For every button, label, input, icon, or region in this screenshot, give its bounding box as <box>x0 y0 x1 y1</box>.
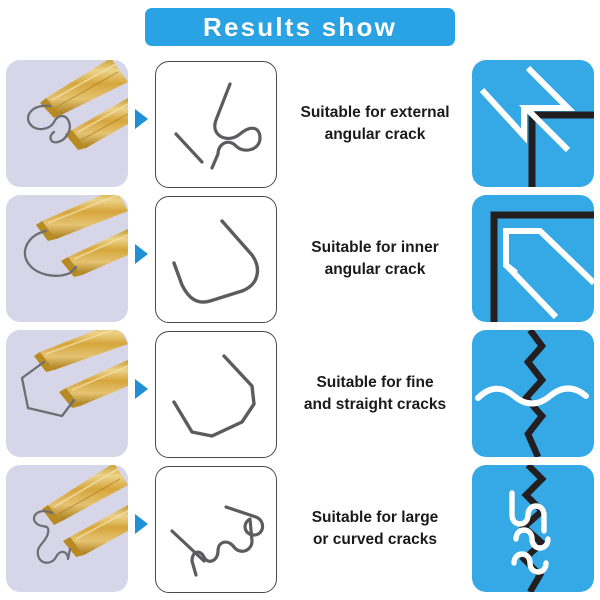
crack-illustration-panel <box>472 195 594 322</box>
product-photo-panel <box>6 330 128 457</box>
result-row: Suitable for external angular crack <box>0 58 600 190</box>
infographic-page: Results show <box>0 0 600 600</box>
play-arrow-right-icon <box>133 108 149 130</box>
play-arrow-right-icon <box>133 513 149 535</box>
gold-iron-tip-lower <box>59 360 128 408</box>
page-title: Results show <box>203 12 397 43</box>
staple-detail-card <box>155 196 277 323</box>
flat-square-staple-shape <box>174 356 254 436</box>
title-banner-wrap: Results show <box>0 7 600 47</box>
crack-illustration-panel <box>472 465 594 592</box>
play-arrow-right-icon <box>133 378 149 400</box>
caption-line-2: and straight cracks <box>304 394 446 416</box>
row-caption: Suitable for inner angular crack <box>285 193 465 325</box>
caption-line-1: Suitable for large <box>312 507 439 529</box>
row-caption: Suitable for fine and straight cracks <box>285 328 465 460</box>
caption-line-2: angular crack <box>325 124 426 146</box>
u-staple-shape <box>174 221 257 302</box>
row-caption: Suitable for large or curved cracks <box>285 463 465 595</box>
staple-detail-card <box>155 61 277 188</box>
caption-line-1: Suitable for external <box>300 102 449 124</box>
crack-illustration-panel <box>472 330 594 457</box>
staple-detail-card <box>155 331 277 458</box>
result-row: Suitable for large or curved cracks <box>0 463 600 595</box>
gold-iron-tip-upper <box>34 330 128 372</box>
crack-illustration-panel <box>472 60 594 187</box>
curved-wavy-staple-shape <box>172 507 263 575</box>
gold-iron-tip-upper <box>36 195 128 241</box>
product-photo-panel <box>6 195 128 322</box>
caption-line-2: or curved cracks <box>313 529 437 551</box>
product-photo-panel <box>6 465 128 592</box>
staple-detail-card <box>155 466 277 593</box>
play-arrow-right-icon <box>133 243 149 265</box>
result-row: Suitable for inner angular crack <box>0 193 600 325</box>
row-caption: Suitable for external angular crack <box>285 58 465 190</box>
caption-line-1: Suitable for fine <box>316 372 433 394</box>
wave-staple-shape <box>176 84 260 168</box>
gold-iron-tip-lower <box>61 229 128 277</box>
caption-line-1: Suitable for inner <box>311 237 438 259</box>
product-photo-panel <box>6 60 128 187</box>
caption-line-2: angular crack <box>325 259 426 281</box>
title-banner: Results show <box>145 8 455 46</box>
result-row: Suitable for fine and straight cracks <box>0 328 600 460</box>
